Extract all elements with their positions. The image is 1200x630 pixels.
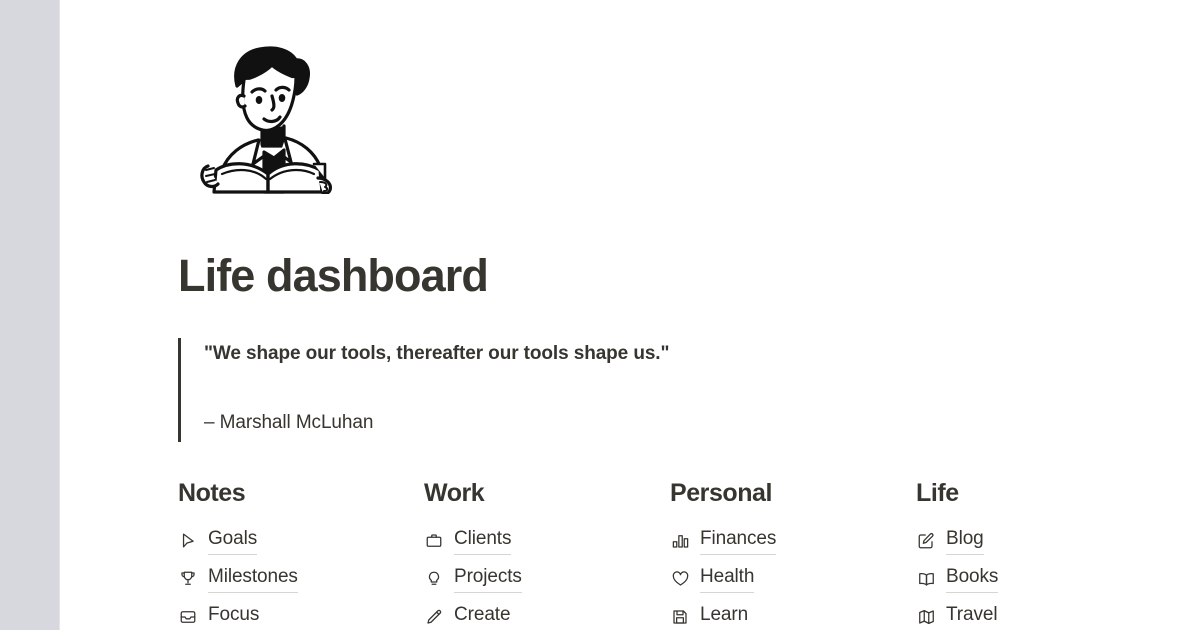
quote-text: "We shape our tools, thereafter our tool… <box>204 340 1200 369</box>
link-label[interactable]: Goals <box>208 526 257 555</box>
quote-attribution: – Marshall McLuhan <box>204 409 1200 438</box>
link-label[interactable]: Clients <box>454 526 511 555</box>
link-label[interactable]: Travel <box>946 602 997 630</box>
left-sidebar-strip <box>0 0 60 630</box>
heart-icon <box>670 569 690 589</box>
link-item-create[interactable]: Create <box>424 598 670 630</box>
link-columns: Notes Goals <box>178 478 1200 630</box>
folded-map-icon <box>916 607 936 627</box>
column-title: Notes <box>178 478 424 508</box>
cursor-arrow-icon <box>178 531 198 551</box>
briefcase-icon <box>424 531 444 551</box>
trophy-icon <box>178 569 198 589</box>
link-item-health[interactable]: Health <box>670 560 916 598</box>
quote-block: "We shape our tools, thereafter our tool… <box>178 338 1200 442</box>
page-title: Life dashboard <box>178 250 1200 302</box>
link-label[interactable]: Focus <box>208 602 259 630</box>
lightbulb-icon <box>424 569 444 589</box>
column-title: Work <box>424 478 670 508</box>
link-item-books[interactable]: Books <box>916 560 1162 598</box>
link-item-travel[interactable]: Travel <box>916 598 1162 630</box>
page-root: Life dashboard "We shape our tools, ther… <box>0 0 1200 630</box>
person-reading-book-illustration <box>192 34 342 194</box>
column-work: Work Clients <box>424 478 670 630</box>
floppy-disk-icon <box>670 607 690 627</box>
open-book-icon <box>916 569 936 589</box>
column-personal: Personal Finances <box>670 478 916 630</box>
link-item-blog[interactable]: Blog <box>916 522 1162 560</box>
column-life: Life Blog <box>916 478 1162 630</box>
link-label[interactable]: Blog <box>946 526 984 555</box>
link-label[interactable]: Health <box>700 564 754 593</box>
link-label[interactable]: Create <box>454 602 510 630</box>
pencil-icon <box>424 607 444 627</box>
link-label[interactable]: Learn <box>700 602 748 630</box>
bar-chart-icon <box>670 531 690 551</box>
inbox-tray-icon <box>178 607 198 627</box>
page-content: Life dashboard "We shape our tools, ther… <box>60 0 1200 630</box>
column-title: Life <box>916 478 1162 508</box>
link-item-focus[interactable]: Focus <box>178 598 424 630</box>
column-notes: Notes Goals <box>178 478 424 630</box>
link-label[interactable]: Finances <box>700 526 776 555</box>
pencil-square-icon <box>916 531 936 551</box>
link-item-learn[interactable]: Learn <box>670 598 916 630</box>
link-item-milestones[interactable]: Milestones <box>178 560 424 598</box>
link-label[interactable]: Books <box>946 564 998 593</box>
link-item-goals[interactable]: Goals <box>178 522 424 560</box>
link-label[interactable]: Projects <box>454 564 522 593</box>
link-item-finances[interactable]: Finances <box>670 522 916 560</box>
column-title: Personal <box>670 478 916 508</box>
link-label[interactable]: Milestones <box>208 564 298 593</box>
link-item-clients[interactable]: Clients <box>424 522 670 560</box>
link-item-projects[interactable]: Projects <box>424 560 670 598</box>
